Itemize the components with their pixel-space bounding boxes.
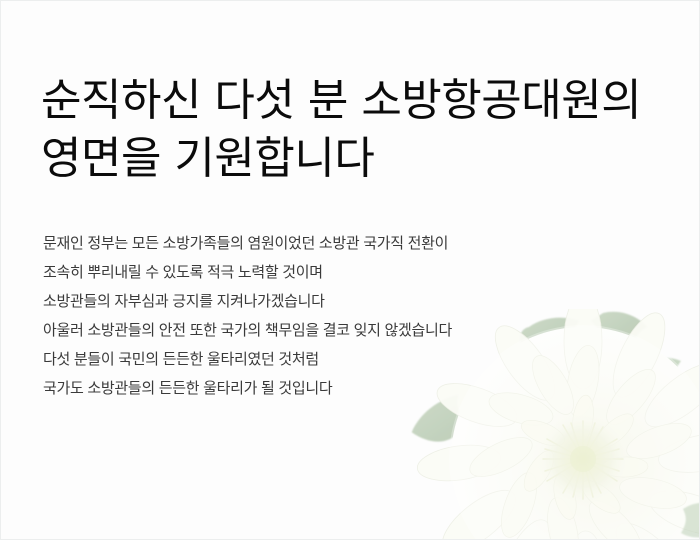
message-line-4: 아울러 소방관들의 안전 또한 국가의 책무임을 결코 잊지 않겠습니다	[43, 316, 643, 345]
message-line-2: 조속히 뿌리내릴 수 있도록 적극 노력할 것이며	[43, 258, 643, 287]
message-line-5: 다섯 분들이 국민의 든든한 울타리였던 것처럼	[43, 345, 643, 374]
flower-center	[543, 421, 623, 499]
message-line-1: 문재인 정부는 모든 소방가족들의 염원이었던 소방관 국가직 전환이	[43, 229, 643, 258]
memorial-card: 순직하신 다섯 분 소방항공대원의 영면을 기원합니다 문재인 정부는 모든 소…	[0, 0, 700, 540]
message-line-3: 소방관들의 자부심과 긍지를 지켜나가겠습니다	[43, 287, 643, 316]
message-body: 문재인 정부는 모든 소방가족들의 염원이었던 소방관 국가직 전환이 조속히 …	[43, 229, 643, 403]
message-line-6: 국가도 소방관들의 든든한 울타리가 될 것입니다	[43, 374, 643, 403]
headline-line-2: 영면을 기원합니다	[41, 131, 681, 187]
headline-line-1: 순직하신 다섯 분 소방항공대원의	[41, 73, 681, 129]
headline: 순직하신 다섯 분 소방항공대원의 영면을 기원합니다	[41, 73, 681, 187]
